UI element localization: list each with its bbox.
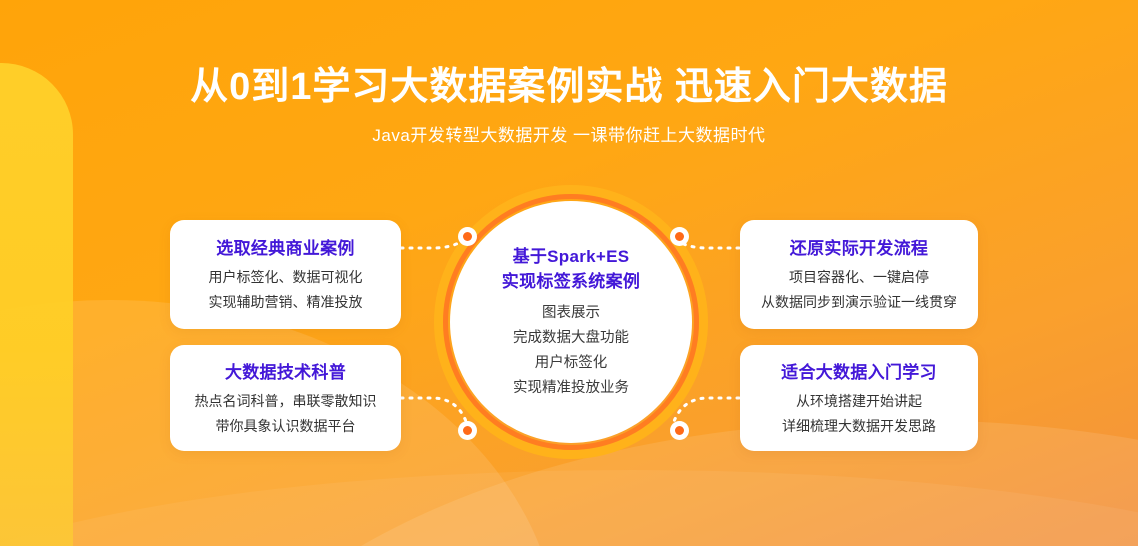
feature-card-title: 还原实际开发流程 [790, 234, 928, 259]
feature-card-line: 项目容器化、一键启停 [789, 265, 929, 290]
center-feature-item: 完成数据大盘功能 [513, 326, 629, 351]
feature-card-bottom-left[interactable]: 大数据技术科普 热点名词科普，串联零散知识 带你具象认识数据平台 [170, 345, 401, 451]
center-feature-list: 图表展示 完成数据大盘功能 用户标签化 实现精准投放业务 [513, 301, 629, 401]
page-subtitle: Java开发转型大数据开发 一课带你赶上大数据时代 [0, 121, 1138, 146]
heading-block: 从0到1学习大数据案例实战 迅速入门大数据 Java开发转型大数据开发 一课带你… [0, 62, 1138, 146]
connector-node-bottom-right [670, 421, 689, 440]
feature-card-title: 选取经典商业案例 [216, 234, 354, 259]
feature-card-line: 实现辅助营销、精准投放 [209, 290, 363, 315]
banner-stage: 从0到1学习大数据案例实战 迅速入门大数据 Java开发转型大数据开发 一课带你… [0, 0, 1138, 546]
feature-card-title: 适合大数据入门学习 [781, 358, 937, 383]
center-feature-item: 用户标签化 [513, 351, 629, 376]
feature-card-line: 热点名词科普，串联零散知识 [195, 389, 377, 414]
center-title-line-2: 实现标签系统案例 [502, 269, 640, 294]
feature-card-line: 用户标签化、数据可视化 [209, 265, 363, 290]
page-title: 从0到1学习大数据案例实战 迅速入门大数据 [0, 62, 1138, 112]
feature-card-line: 从数据同步到演示验证一线贯穿 [761, 290, 957, 315]
connector-node-top-left [458, 227, 477, 246]
feature-card-title: 大数据技术科普 [225, 358, 346, 383]
feature-card-line: 带你具象认识数据平台 [216, 414, 356, 439]
connector-node-top-right [670, 227, 689, 246]
center-feature-item: 实现精准投放业务 [513, 376, 629, 401]
connector-node-bottom-left [458, 421, 477, 440]
feature-card-line: 详细梳理大数据开发思路 [782, 414, 936, 439]
center-circle-card: 基于Spark+ES 实现标签系统案例 图表展示 完成数据大盘功能 用户标签化 … [450, 201, 692, 443]
feature-card-top-right[interactable]: 还原实际开发流程 项目容器化、一键启停 从数据同步到演示验证一线贯穿 [740, 220, 978, 329]
center-feature-item: 图表展示 [513, 301, 629, 326]
feature-card-line: 从环境搭建开始讲起 [796, 389, 922, 414]
feature-card-top-left[interactable]: 选取经典商业案例 用户标签化、数据可视化 实现辅助营销、精准投放 [170, 220, 401, 329]
center-title-line-1: 基于Spark+ES [513, 244, 630, 269]
feature-card-bottom-right[interactable]: 适合大数据入门学习 从环境搭建开始讲起 详细梳理大数据开发思路 [740, 345, 978, 451]
